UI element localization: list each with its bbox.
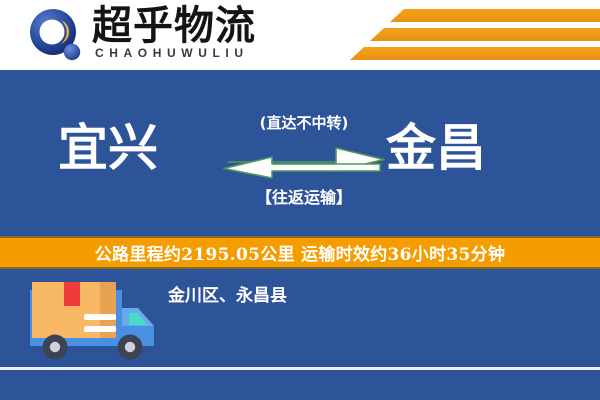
delivery-truck-icon	[26, 278, 164, 370]
double-arrow-icon	[218, 140, 390, 180]
orange-stripe-icon	[370, 28, 600, 41]
destination-city-name: 金昌	[386, 118, 486, 178]
roundtrip-label: 【往返运输】	[220, 184, 388, 208]
bottom-divider	[0, 367, 600, 370]
route-info-bar: 公路里程约2195.05公里 运输时效约36小时35分钟	[0, 236, 600, 269]
orange-stripe-icon	[390, 9, 600, 22]
origin-city-name: 宜兴	[58, 118, 158, 178]
brand-pinyin: CHAOHUWULIU	[95, 46, 249, 60]
coverage-districts-text: 金川区、永昌县	[168, 281, 287, 306]
direct-route-label: (直达不中转)	[220, 112, 388, 133]
circle-q-logo-icon	[28, 8, 84, 64]
route-indicator: (直达不中转) 【往返运输】	[220, 112, 388, 212]
brand-name: 超乎物流	[92, 4, 256, 48]
orange-stripe-icon	[350, 47, 600, 60]
route-info-text: 公路里程约2195.05公里 运输时效约36小时35分钟	[95, 240, 506, 265]
banner-header: 超乎物流 CHAOHUWULIU	[0, 0, 600, 70]
logistics-route-banner: 超乎物流 CHAOHUWULIU 宜兴 金昌 (直达不中转) 【往返运输】 公路…	[0, 0, 600, 400]
